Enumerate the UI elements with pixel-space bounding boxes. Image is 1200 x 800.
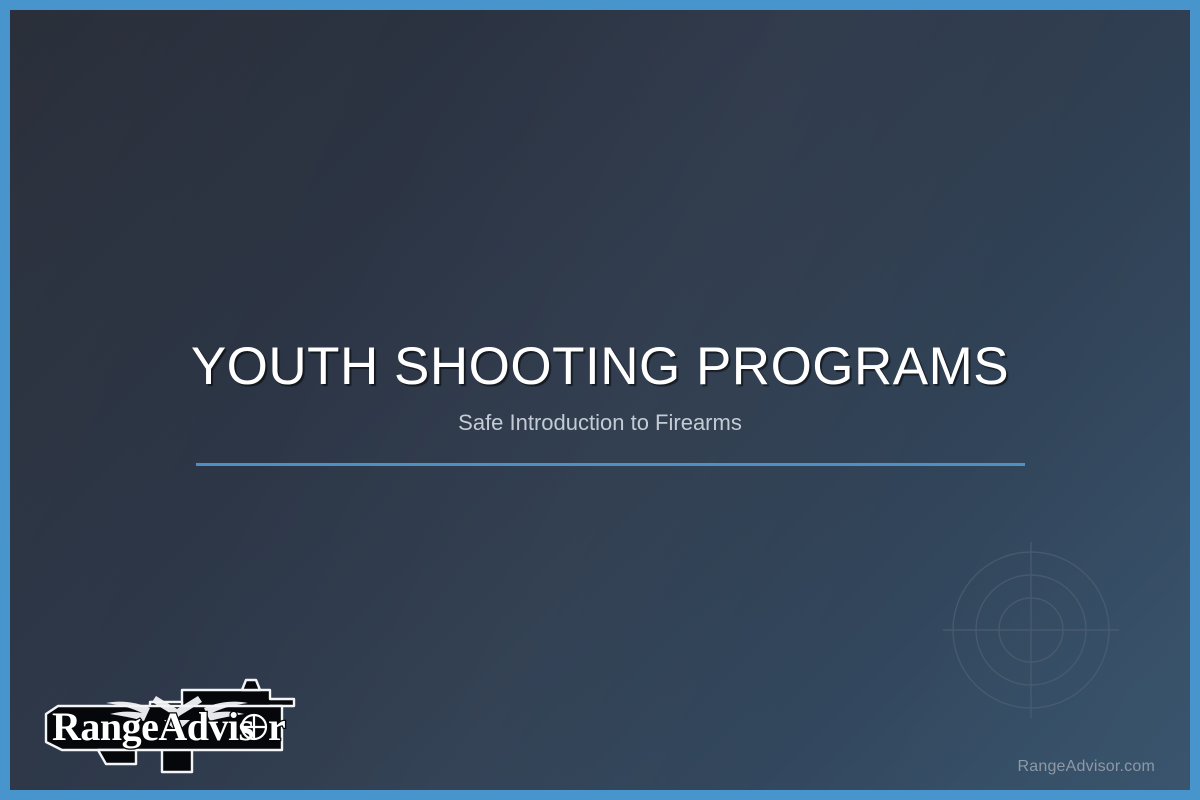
page-subtitle: Safe Introduction to Firearms [10,411,1190,435]
accent-divider [196,463,1025,466]
svg-text:RangeAdvis: RangeAdvis [52,704,254,749]
footer-url: RangeAdvisor.com [1018,758,1156,776]
presentation-slide: YOUTH SHOOTING PROGRAMS Safe Introductio… [0,0,1200,800]
svg-text:r: r [268,704,286,749]
crosshair-target-icon [931,530,1131,730]
slide-canvas: YOUTH SHOOTING PROGRAMS Safe Introductio… [10,10,1190,790]
title-block: YOUTH SHOOTING PROGRAMS Safe Introductio… [10,340,1190,435]
scope-reticle-icon [242,715,266,739]
brand-logo: RangeAdvis r [32,668,322,780]
page-title: YOUTH SHOOTING PROGRAMS [10,340,1190,393]
